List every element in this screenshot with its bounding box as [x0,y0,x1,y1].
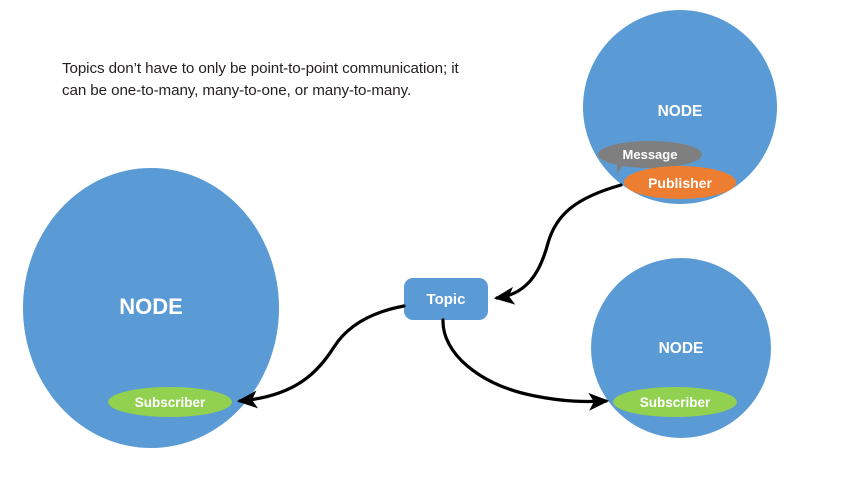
subscriber-pill-left[interactable]: Subscriber [108,387,232,417]
publisher-pill[interactable]: Publisher [624,166,736,199]
node-top-right-label: NODE [583,103,777,121]
node-bottom-right-label: NODE [591,340,771,358]
node-left-label: NODE [23,294,279,320]
arrow-publisher-to-topic [497,185,621,298]
arrow-topic-to-bottom-right-subscriber [443,320,606,401]
diagram-canvas: Topics don’t have to only be point-to-po… [0,0,854,480]
subscriber-pill-bottom-right[interactable]: Subscriber [613,387,737,417]
caption-line-1: Topics don’t have to only be point-to-po… [62,58,492,80]
caption-line-2: can be one-to-many, many-to-one, or many… [62,80,492,102]
message-pill[interactable]: Message [598,141,702,168]
topic-box[interactable]: Topic [404,278,488,320]
caption-text: Topics don’t have to only be point-to-po… [62,58,492,101]
message-tail-icon [617,161,626,174]
